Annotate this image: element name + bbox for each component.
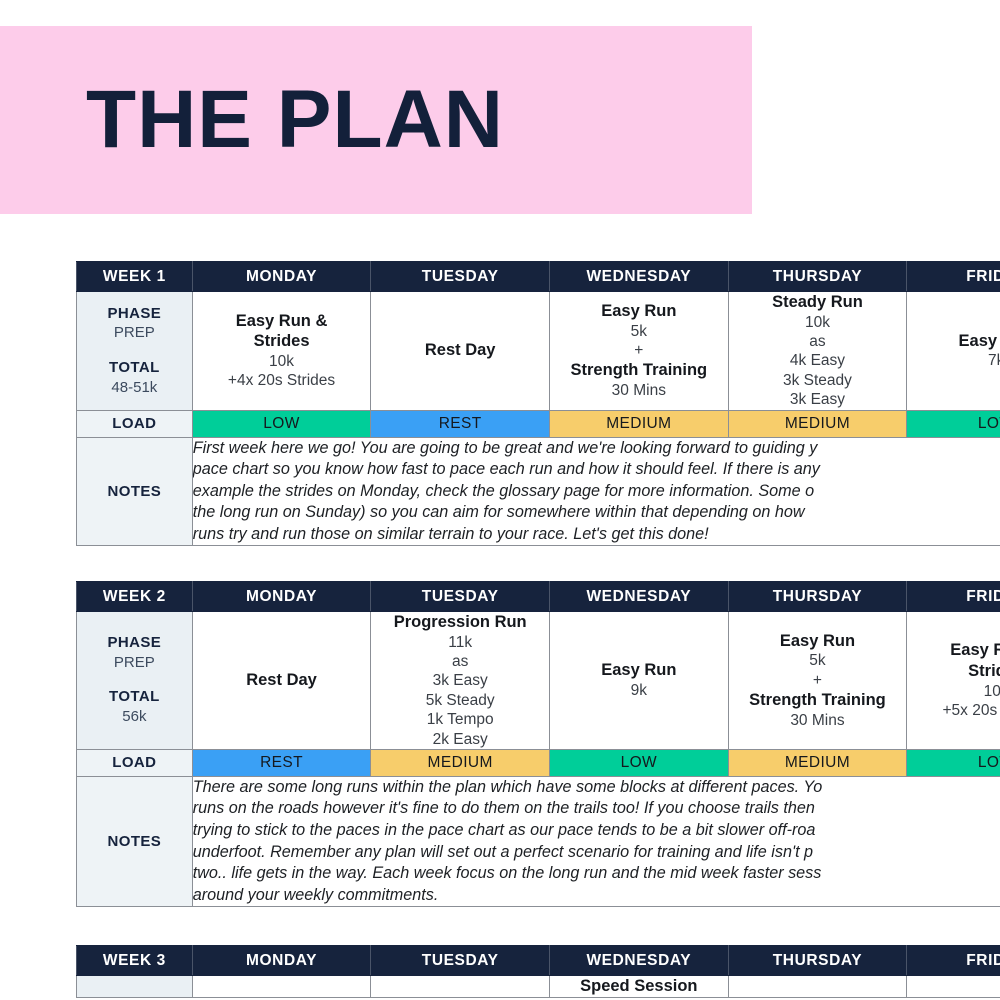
phase-value: PREP <box>77 323 192 343</box>
day-header-thursday: THURSDAY <box>728 582 907 612</box>
session-detail: 3k Easy <box>729 390 907 409</box>
notes-row: NOTESThere are some long runs within the… <box>77 776 1000 906</box>
session-cell-friday[interactable]: Easy Run &Strides10k+5x 20s Strides <box>907 612 1000 750</box>
day-header-monday: MONDAY <box>192 946 371 976</box>
total-value: 48-51k <box>77 378 192 398</box>
week-header-row: WEEK 3MONDAYTUESDAYWEDNESDAYTHURSDAYFRID… <box>77 946 1000 976</box>
phase-value: PREP <box>77 653 192 673</box>
session-detail: + <box>550 341 728 360</box>
load-row: LOADRESTMEDIUMLOWMEDIUMLOW <box>77 749 1000 776</box>
load-cell-thursday[interactable]: MEDIUM <box>728 749 907 776</box>
day-header-tuesday: TUESDAY <box>371 582 550 612</box>
session-title: Easy Run & <box>193 311 371 332</box>
session-title: Rest Day <box>371 340 549 361</box>
session-cell-tuesday[interactable] <box>371 976 550 998</box>
session-title: Easy Run & <box>907 640 1000 661</box>
notes-text: There are some long runs within the plan… <box>192 776 1000 906</box>
session-detail: +5x 20s Strides <box>907 701 1000 720</box>
day-header-tuesday: TUESDAY <box>371 946 550 976</box>
session-detail: 7k <box>907 351 1000 370</box>
phase-total-cell <box>77 976 193 998</box>
session-detail: 3k Steady <box>729 371 907 390</box>
day-header-thursday: THURSDAY <box>728 262 907 292</box>
session-title: Easy Run <box>907 331 1000 352</box>
week-table-3: WEEK 3MONDAYTUESDAYWEDNESDAYTHURSDAYFRID… <box>76 945 1000 998</box>
session-detail: 1k Tempo <box>371 710 549 729</box>
week-name-header: WEEK 2 <box>77 582 193 612</box>
session-cell-monday[interactable]: Rest Day <box>192 612 371 750</box>
day-header-friday: FRIDAY <box>907 262 1000 292</box>
session-title: Strides <box>193 331 371 352</box>
phase-label: PHASE <box>77 305 192 324</box>
notes-line: pace chart so you know how fast to pace … <box>193 459 1000 481</box>
total-label: TOTAL <box>77 359 192 378</box>
day-header-friday: FRIDAY <box>907 582 1000 612</box>
session-detail: as <box>371 652 549 671</box>
session-title: Progression Run <box>371 612 549 633</box>
total-label: TOTAL <box>77 688 192 707</box>
load-cell-tuesday[interactable]: REST <box>371 410 550 437</box>
phase-label: PHASE <box>77 634 192 653</box>
notes-line: example the strides on Monday, check the… <box>193 481 1000 503</box>
session-title: Easy Run <box>729 631 907 652</box>
session-detail: 4k Easy <box>729 351 907 370</box>
day-header-wednesday: WEDNESDAY <box>550 582 729 612</box>
total-value: 56k <box>77 707 192 727</box>
session-cell-friday[interactable]: Easy Run7k <box>907 292 1000 411</box>
session-title: Easy Run <box>550 660 728 681</box>
session-detail: 30 Mins <box>729 711 907 730</box>
session-detail: + <box>729 671 907 690</box>
session-detail: as <box>729 332 907 351</box>
day-header-monday: MONDAY <box>192 262 371 292</box>
session-cell-wednesday[interactable]: Speed Session <box>550 976 729 998</box>
notes-line: First week here we go! You are going to … <box>193 438 1000 460</box>
load-cell-friday[interactable]: LOW <box>907 410 1000 437</box>
session-title: Steady Run <box>729 292 907 313</box>
session-detail: +4x 20s Strides <box>193 371 371 390</box>
notes-line: runs on the roads however it's fine to d… <box>193 798 1000 820</box>
day-header-monday: MONDAY <box>192 582 371 612</box>
week-table-2: WEEK 2MONDAYTUESDAYWEDNESDAYTHURSDAYFRID… <box>76 581 1000 907</box>
notes-line: the long run on Sunday) so you can aim f… <box>193 502 1000 524</box>
week-table-1: WEEK 1MONDAYTUESDAYWEDNESDAYTHURSDAYFRID… <box>76 261 1000 546</box>
plan-banner: THE PLAN <box>0 26 752 214</box>
training-plan-page: THE PLAN WEEK 1MONDAYTUESDAYWEDNESDAYTHU… <box>0 0 1000 1000</box>
day-header-wednesday: WEDNESDAY <box>550 262 729 292</box>
session-cell-tuesday[interactable]: Rest Day <box>371 292 550 411</box>
week-header-row: WEEK 1MONDAYTUESDAYWEDNESDAYTHURSDAYFRID… <box>77 262 1000 292</box>
load-row-label: LOAD <box>77 410 193 437</box>
notes-line: around your weekly commitments. <box>193 885 1000 907</box>
day-header-tuesday: TUESDAY <box>371 262 550 292</box>
session-detail: 3k Easy <box>371 671 549 690</box>
session-title-secondary: Strength Training <box>729 690 907 711</box>
day-header-thursday: THURSDAY <box>728 946 907 976</box>
session-title: Speed Session <box>550 976 728 997</box>
page-title: THE PLAN <box>86 79 504 161</box>
day-header-wednesday: WEDNESDAY <box>550 946 729 976</box>
load-cell-thursday[interactable]: MEDIUM <box>728 410 907 437</box>
session-cell-thursday[interactable]: Steady Run10kas4k Easy3k Steady3k Easy <box>728 292 907 411</box>
session-cell-friday[interactable] <box>907 976 1000 998</box>
sessions-row: PHASEPREPTOTAL48-51kEasy Run &Strides10k… <box>77 292 1000 411</box>
week-name-header: WEEK 3 <box>77 946 193 976</box>
notes-line: runs try and run those on similar terrai… <box>193 524 1000 546</box>
spacer <box>77 343 192 359</box>
session-title: Easy Run <box>550 301 728 322</box>
load-cell-wednesday[interactable]: LOW <box>550 749 729 776</box>
session-cell-monday[interactable]: Easy Run &Strides10k+4x 20s Strides <box>192 292 371 411</box>
notes-line: underfoot. Remember any plan will set ou… <box>193 842 1000 864</box>
load-row-label: LOAD <box>77 749 193 776</box>
load-cell-friday[interactable]: LOW <box>907 749 1000 776</box>
session-cell-tuesday[interactable]: Progression Run11kas3k Easy5k Steady1k T… <box>371 612 550 750</box>
session-title-secondary: Strength Training <box>550 360 728 381</box>
notes-row-label: NOTES <box>77 437 193 546</box>
load-row: LOADLOWRESTMEDIUMMEDIUMLOW <box>77 410 1000 437</box>
day-header-friday: FRIDAY <box>907 946 1000 976</box>
session-title: Rest Day <box>193 670 371 691</box>
spacer <box>77 672 192 688</box>
session-detail: 9k <box>550 681 728 700</box>
notes-row-label: NOTES <box>77 776 193 906</box>
notes-line: two.. life gets in the way. Each week fo… <box>193 863 1000 885</box>
notes-text: First week here we go! You are going to … <box>192 437 1000 546</box>
session-title: Strides <box>907 661 1000 682</box>
week-header-row: WEEK 2MONDAYTUESDAYWEDNESDAYTHURSDAYFRID… <box>77 582 1000 612</box>
session-cell-thursday[interactable] <box>728 976 907 998</box>
load-cell-wednesday[interactable]: MEDIUM <box>550 410 729 437</box>
session-cell-wednesday[interactable]: Easy Run5k+Strength Training30 Mins <box>550 292 729 411</box>
notes-line: There are some long runs within the plan… <box>193 777 1000 799</box>
session-cell-thursday[interactable]: Easy Run5k+Strength Training30 Mins <box>728 612 907 750</box>
week-name-header: WEEK 1 <box>77 262 193 292</box>
load-cell-monday[interactable]: REST <box>192 749 371 776</box>
session-detail: 10k <box>193 352 371 371</box>
session-cell-monday[interactable] <box>192 976 371 998</box>
phase-total-cell: PHASEPREPTOTAL56k <box>77 612 193 750</box>
sessions-row: PHASEPREPTOTAL56kRest DayProgression Run… <box>77 612 1000 750</box>
notes-row: NOTESFirst week here we go! You are goin… <box>77 437 1000 546</box>
phase-total-cell: PHASEPREPTOTAL48-51k <box>77 292 193 411</box>
load-cell-tuesday[interactable]: MEDIUM <box>371 749 550 776</box>
session-detail: 30 Mins <box>550 381 728 400</box>
notes-line: trying to stick to the paces in the pace… <box>193 820 1000 842</box>
session-detail: 2k Easy <box>371 730 549 749</box>
session-detail: 5k <box>550 322 728 341</box>
session-cell-wednesday[interactable]: Easy Run9k <box>550 612 729 750</box>
session-detail: 5k <box>729 651 907 670</box>
session-detail: 10k <box>907 682 1000 701</box>
session-detail: 5k Steady <box>371 691 549 710</box>
load-cell-monday[interactable]: LOW <box>192 410 371 437</box>
sessions-row: Speed Session <box>77 976 1000 998</box>
session-detail: 10k <box>729 313 907 332</box>
session-detail: 11k <box>371 633 549 652</box>
